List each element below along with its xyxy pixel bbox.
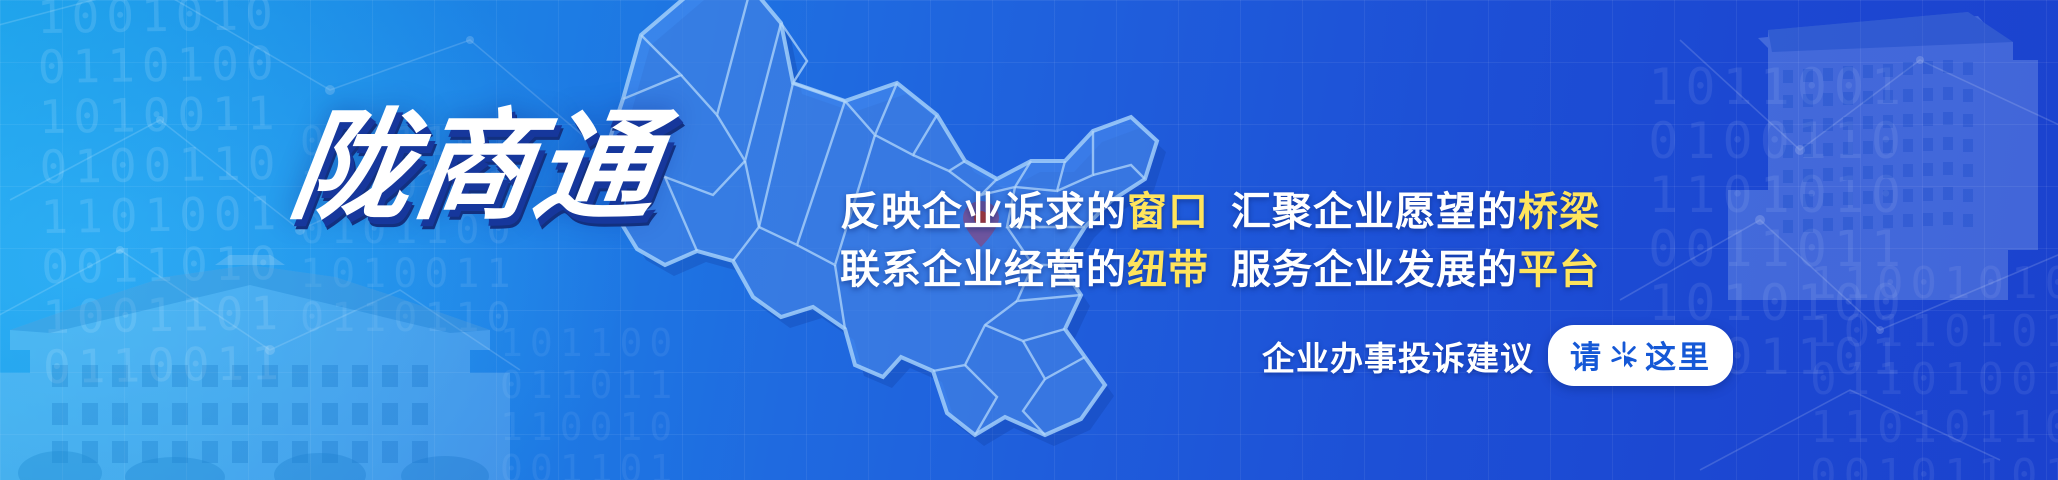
slogan-line-2: 联系企业经营的纽带服务企业发展的平台 bbox=[840, 241, 1650, 299]
lst-hero-banner: 1001010 0110100 1010011 0100110 1101001 … bbox=[0, 0, 2058, 480]
slogan-line1-highlight-2: 桥梁 bbox=[1518, 189, 1600, 235]
banner-content: 陇商通 反映企业诉求的窗口汇聚企业愿望的桥梁 联系企业经营的纽带服务企业发展的平… bbox=[0, 0, 2058, 480]
cta-label: 企业办事投诉建议 bbox=[1262, 332, 1534, 380]
brand-title: 陇商通 bbox=[284, 108, 667, 228]
slogan-line-1: 反映企业诉求的窗口汇聚企业愿望的桥梁 bbox=[840, 183, 1650, 241]
slogan-block: 反映企业诉求的窗口汇聚企业愿望的桥梁 联系企业经营的纽带服务企业发展的平台 bbox=[840, 183, 1650, 299]
slogan-line2-plain-1: 联系企业经营的 bbox=[840, 247, 1127, 293]
click-here-button[interactable]: 请 这里 bbox=[1548, 325, 1733, 386]
slogan-line2-plain-2: 服务企业发展的 bbox=[1231, 247, 1518, 293]
slogan-line1-plain-2: 汇聚企业愿望的 bbox=[1231, 189, 1518, 235]
slogan-line2-highlight-2: 平台 bbox=[1518, 247, 1600, 293]
click-here-suffix: 这里 bbox=[1645, 332, 1711, 377]
click-sparkle-icon bbox=[1609, 340, 1639, 370]
slogan-line1-plain-1: 反映企业诉求的 bbox=[840, 189, 1127, 235]
cta-block: 企业办事投诉建议 请 这里 bbox=[1262, 325, 1733, 386]
click-here-prefix: 请 bbox=[1570, 332, 1603, 377]
slogan-line1-highlight-1: 窗口 bbox=[1127, 189, 1209, 235]
slogan-line2-highlight-1: 纽带 bbox=[1127, 247, 1209, 293]
